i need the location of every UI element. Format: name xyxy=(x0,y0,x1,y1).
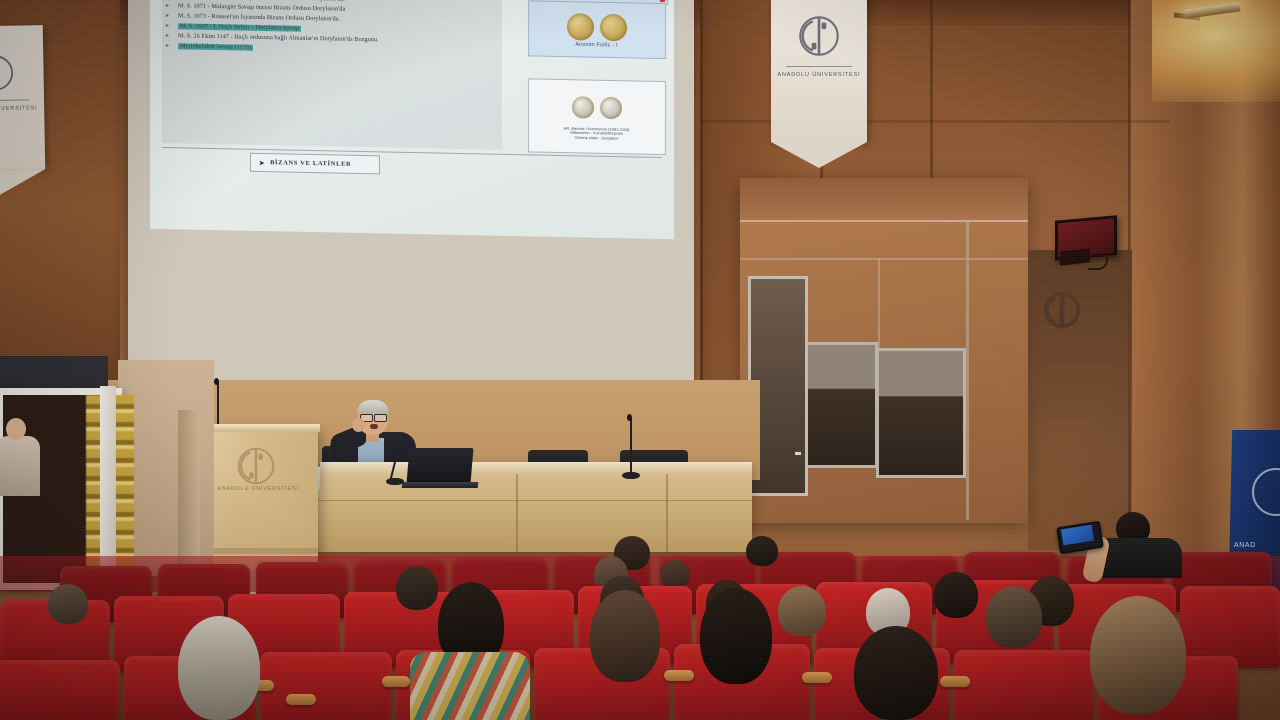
table-microphone-head xyxy=(627,414,632,421)
audience-head xyxy=(746,536,778,566)
seat-armrest xyxy=(940,676,970,687)
presenter-mouth xyxy=(370,424,378,429)
wall-sconce-glow xyxy=(1152,0,1280,102)
booth-side-shadow xyxy=(1028,250,1132,550)
booth-seam xyxy=(966,220,969,520)
seat-armrest xyxy=(802,672,832,683)
audience-head xyxy=(660,560,690,588)
gold-coin-obverse xyxy=(567,13,594,41)
hanging-banner-right: ANADOLU ÜNİVERSİTESİ xyxy=(771,0,867,142)
audience-head xyxy=(48,584,88,624)
anadolu-university-logo-icon xyxy=(793,10,845,62)
wall-seam xyxy=(930,0,933,190)
audience-head xyxy=(590,590,660,682)
silver-coin-reverse xyxy=(600,97,622,119)
seat-armrest xyxy=(664,670,694,681)
coin-pair xyxy=(567,13,627,41)
podium-top-surface xyxy=(196,424,320,432)
seat[interactable] xyxy=(954,650,1094,720)
booth-window-left xyxy=(796,342,878,468)
banner-label: ANADOLU ÜNİVERSİTESİ xyxy=(777,72,860,78)
left-pillar xyxy=(178,410,200,580)
audience-shoulders xyxy=(410,652,530,720)
silver-coin-obverse xyxy=(572,96,594,118)
table-seam xyxy=(516,474,518,552)
audience-head xyxy=(1090,596,1186,714)
seat[interactable] xyxy=(0,660,120,720)
slide-bullet-list: M. S. 1069 - Krispinos'un İsyanında Biza… xyxy=(162,0,502,150)
projection-screen: Phokas - 602-610 II. Mikhail - 820-829 V… xyxy=(128,0,694,400)
slide-bullet-text: Myriokefalon Savaşı (1176) xyxy=(178,43,253,51)
podium-microphone-stem xyxy=(217,382,219,430)
slide-section-title-box: ➤ BİZANS VE LATİNLER xyxy=(250,153,380,175)
banner-label: ANADOLU ÜNİVERSİTESİ xyxy=(0,105,38,112)
coin-caption: Anonim Follis - I xyxy=(576,41,618,48)
hanging-banner-left: ANADOLU ÜNİVERSİTESİ xyxy=(0,25,45,171)
seat-armrest xyxy=(382,676,410,687)
presenter-glasses-right xyxy=(374,414,387,422)
slide-section-title: BİZANS VE LATİNLER xyxy=(270,159,351,168)
seat[interactable] xyxy=(260,652,392,720)
gold-coin-reverse xyxy=(600,14,627,42)
banner-divider xyxy=(0,99,29,101)
coin-pair xyxy=(572,96,622,119)
standing-person-body xyxy=(0,436,40,496)
booth-seam xyxy=(740,258,1028,260)
laptop-keyboard[interactable] xyxy=(402,482,479,488)
table-microphone-base xyxy=(622,472,640,479)
podium-band xyxy=(198,548,318,554)
audience-head xyxy=(178,616,260,720)
audience-head xyxy=(986,586,1042,648)
table-seam xyxy=(318,500,752,501)
laptop[interactable] xyxy=(406,448,473,484)
flag-logo-icon xyxy=(1252,468,1280,516)
red-marker xyxy=(660,0,665,2)
table-microphone-stem xyxy=(630,418,632,474)
audience-head xyxy=(396,566,438,610)
silver-coin-cell: AR. Alexios I Komnenos (1081-1118) Milia… xyxy=(528,78,666,155)
anadolu-university-logo-icon xyxy=(0,50,19,97)
auditorium-photo: ANADOLU ÜNİVERSİTESİ ANADOLU ÜNİVERSİTES… xyxy=(0,0,1280,720)
flag-label: ANAD xyxy=(1234,542,1256,549)
audience-head xyxy=(934,572,978,618)
audience-head xyxy=(778,586,826,636)
projection-booth-header xyxy=(740,178,1028,222)
silver-coin-caption-block: AR. Alexios I Komnenos (1081-1118) Milia… xyxy=(573,126,620,140)
speaker-table xyxy=(318,462,752,552)
audience-head xyxy=(700,588,772,684)
open-door-leaf[interactable] xyxy=(100,386,116,578)
standing-person-head xyxy=(6,418,26,440)
presenter-hand xyxy=(352,418,365,432)
presentation-slide: Phokas - 602-610 II. Mikhail - 820-829 V… xyxy=(150,0,674,239)
podium-microphone-head xyxy=(214,378,219,385)
presenter-hair xyxy=(357,400,389,413)
coin-cell: Anonim Follis - I xyxy=(528,0,666,59)
booth-window-right xyxy=(876,348,966,478)
podium-label: ANADOLU ÜNİVERSİTESİ xyxy=(206,486,310,492)
anadolu-university-logo-icon xyxy=(232,440,280,492)
audience-head xyxy=(854,626,938,720)
seat-armrest xyxy=(286,694,316,705)
wall-seam xyxy=(700,0,703,430)
left-dark-recess xyxy=(0,356,108,392)
table-seam xyxy=(666,474,668,552)
slide-bullet-text: M. S. 1097 - I. Haçlı Seferi – Dorylaion… xyxy=(178,23,301,31)
speaker-table-surface xyxy=(318,462,752,474)
banner-divider xyxy=(786,66,852,67)
slide-section-bullet-icon: ➤ xyxy=(259,158,265,166)
booth-door-handle[interactable] xyxy=(795,452,801,455)
desk-microphone-base xyxy=(386,478,404,485)
silver-coin-caption-line: Gümüş sikke - Dorylaion xyxy=(564,134,630,141)
